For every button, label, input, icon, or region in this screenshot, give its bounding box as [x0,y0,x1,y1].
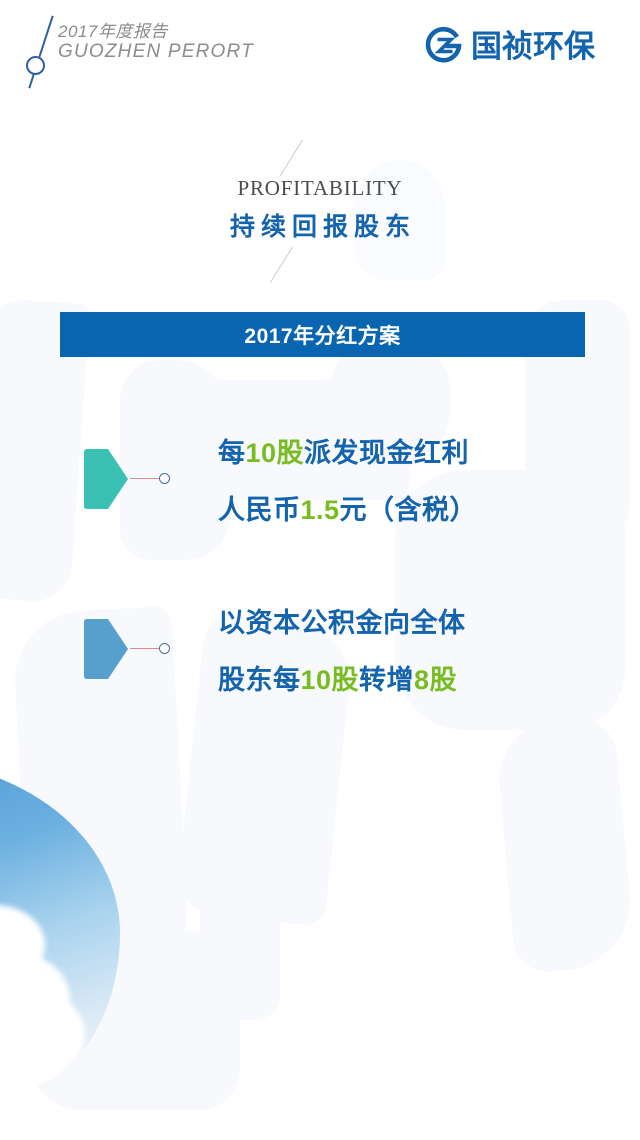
water-drop-photo [0,760,120,1090]
section-title-block: PROFITABILITY 持续回报股东 [0,140,640,281]
report-title-cn: 2017年度报告 [58,22,254,41]
bullet-text: 以资本公积金向全体 股东每10股转增8股 [218,610,466,724]
text-run: 元（含税） [340,495,478,525]
bullet-line-2: 人民币1.5元（含税） [218,497,477,524]
section-title-en: PROFITABILITY [0,176,640,201]
text-run: 转增 [359,665,414,695]
list-item: 以资本公积金向全体 股东每10股转增8股 [0,610,640,780]
bullet-text: 每10股派发现金红利 人民币1.5元（含税） [218,440,477,554]
brand-name: 国祯环保 [471,31,595,62]
decorative-slash-top [280,140,360,174]
highlight-run: 10股 [246,438,305,468]
connector-dot-icon [159,643,170,654]
report-title-en: GUOZHEN PERORT [58,41,254,62]
bullet-list: 每10股派发现金红利 人民币1.5元（含税） 以资本公积金向全体 股东每10股转… [0,440,640,780]
dividend-plan-banner: 2017年分红方案 [60,312,585,357]
brand-logo: 国祯环保 [424,26,595,66]
text-run: 派发现金红利 [304,438,469,468]
bullet-line-1: 每10股派发现金红利 [218,440,477,467]
highlight-run: 8股 [414,665,457,695]
pentagon-marker-icon [78,448,130,510]
section-title-cn: 持续回报股东 [0,207,640,243]
page-header: 2017年度报告 GUOZHEN PERORT 国祯环保 [0,0,640,100]
slide-canvas: 2017年度报告 GUOZHEN PERORT 国祯环保 PROFITABILI… [0,0,640,1140]
list-item: 每10股派发现金红利 人民币1.5元（含税） [0,440,640,610]
banner-label: 2017年分红方案 [244,320,400,350]
decorative-slash-bottom [280,247,360,281]
connector-dot-icon [159,473,170,484]
report-title-group: 2017年度报告 GUOZHEN PERORT [58,22,254,62]
guozhen-circle-icon [424,26,464,66]
bullet-line-2: 股东每10股转增8股 [218,667,466,694]
highlight-run: 1.5 [301,495,340,525]
text-run: 股东每 [218,665,301,695]
connector-line [130,478,160,479]
text-run: 人民币 [218,495,301,525]
bullet-line-1: 以资本公积金向全体 [218,610,466,637]
highlight-run: 10股 [301,665,360,695]
text-run: 以资本公积金向全体 [218,608,466,638]
pentagon-arrow-icon [78,618,130,680]
text-run: 每 [218,438,246,468]
pentagon-arrow-icon [78,448,130,510]
connector-line [130,648,160,649]
pentagon-marker-icon [78,618,130,680]
